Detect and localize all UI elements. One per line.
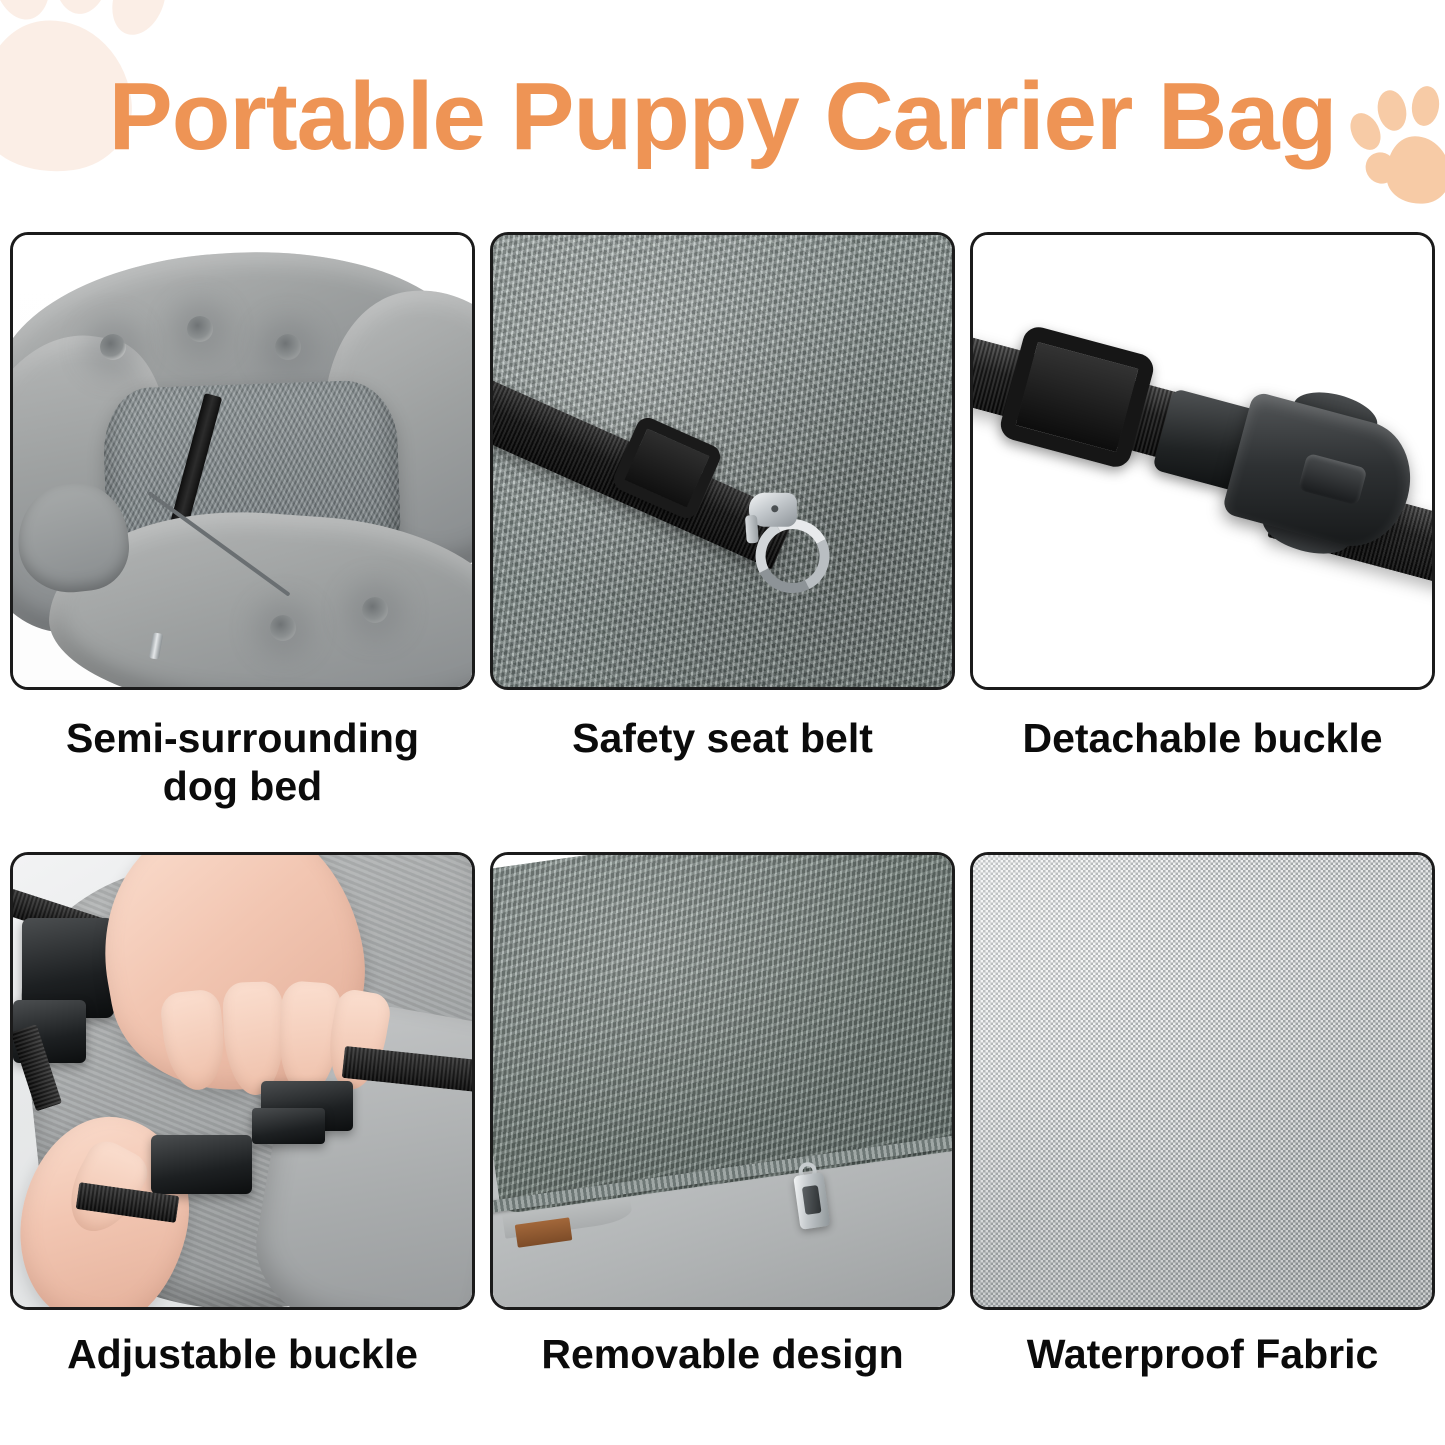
photo-semi-surrounding-dog-bed	[13, 235, 472, 687]
caption-line-2: dog bed	[10, 762, 475, 810]
feature-cell-detachable-buckle[interactable]	[970, 232, 1435, 690]
feature-cell-waterproof-fabric[interactable]	[970, 852, 1435, 1310]
feature-cell-removable-design[interactable]	[490, 852, 955, 1310]
photo-waterproof-fabric	[973, 855, 1432, 1307]
product-infographic: Portable Puppy Carrier Bag	[0, 0, 1445, 1445]
feature-cell-semi-surrounding-dog-bed[interactable]	[10, 232, 475, 690]
photo-removable-design	[493, 855, 952, 1307]
feature-grid: Semi-surrounding dog bed Safety seat bel…	[10, 232, 1435, 1312]
page-title: Portable Puppy Carrier Bag	[0, 62, 1445, 172]
feature-caption-safety-seat-belt: Safety seat belt	[490, 714, 955, 762]
photo-safety-seat-belt	[493, 235, 952, 687]
feature-row-top: Semi-surrounding dog bed Safety seat bel…	[10, 232, 1435, 690]
feature-cell-adjustable-buckle[interactable]	[10, 852, 475, 1310]
feature-caption-adjustable-buckle: Adjustable buckle	[10, 1330, 475, 1378]
feature-caption-detachable-buckle: Detachable buckle	[970, 714, 1435, 762]
caption-line-1: Semi-surrounding	[10, 714, 475, 762]
feature-caption-semi-surrounding-dog-bed: Semi-surrounding dog bed	[10, 714, 475, 810]
feature-caption-waterproof-fabric: Waterproof Fabric	[970, 1330, 1435, 1378]
photo-adjustable-buckle	[13, 855, 472, 1307]
photo-detachable-buckle	[973, 235, 1432, 687]
feature-row-bottom: Adjustable buckle Removable design Water…	[10, 852, 1435, 1310]
feature-caption-removable-design: Removable design	[490, 1330, 955, 1378]
feature-cell-safety-seat-belt[interactable]	[490, 232, 955, 690]
